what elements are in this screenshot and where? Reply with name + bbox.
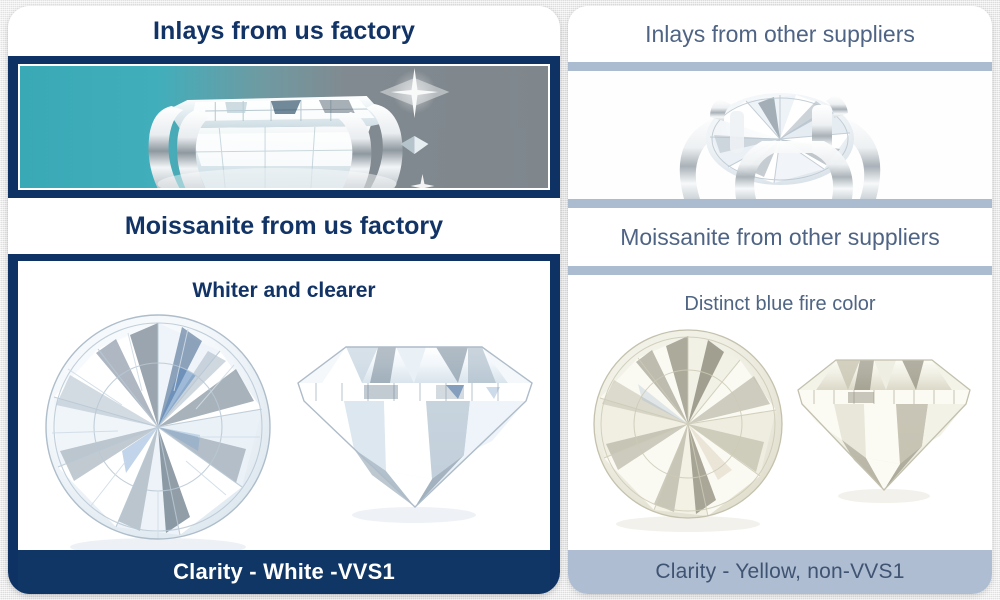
our-factory-card: Inlays from us factory [8, 6, 560, 594]
other-stone-row [568, 316, 992, 550]
other-inlay-image [568, 71, 992, 199]
emerald-cut-diamond-in-prong-setting-icon [20, 66, 548, 188]
other-moissanite-media: Distinct blue fire color [568, 275, 992, 550]
side-view-diamond-white-icon [286, 329, 544, 529]
our-inlays-title: Inlays from us factory [8, 6, 560, 56]
our-clarity-label: Clarity - White -VVS1 [18, 550, 550, 594]
comparison-infographic: Inlays from us factory [0, 0, 1000, 600]
our-inlay-media-border [18, 64, 550, 190]
other-clarity-label: Clarity - Yellow, non-VVS1 [568, 550, 992, 594]
other-suppliers-card: Inlays from other suppliers [568, 6, 992, 594]
other-stone-caption: Distinct blue fire color [568, 275, 992, 316]
our-stone-caption: Whiter and clearer [18, 261, 550, 303]
our-inlay-media-frame [8, 56, 560, 198]
round-brilliant-diamond-white-icon [30, 309, 286, 550]
round-brilliant-diamond-yellow-tint-icon [582, 324, 794, 534]
round-diamond-solitaire-ring-icon [568, 71, 992, 199]
other-moissanite-title: Moissanite from other suppliers [568, 208, 992, 266]
our-moissanite-title: Moissanite from us factory [8, 198, 560, 254]
other-inlays-title: Inlays from other suppliers [568, 6, 992, 62]
our-stone-row [18, 303, 550, 550]
our-moissanite-media: Whiter and clearer [18, 261, 550, 550]
our-moissanite-media-frame: Whiter and clearer [8, 254, 560, 594]
sparkle-star-small-icon [411, 174, 435, 188]
side-view-diamond-yellow-tint-icon [790, 346, 978, 506]
our-inlay-image [20, 66, 548, 188]
sparkle-star-icon [380, 68, 450, 118]
divider-rule-lower [568, 266, 992, 275]
divider-rule-middle [568, 199, 992, 208]
divider-rule-top [568, 62, 992, 71]
